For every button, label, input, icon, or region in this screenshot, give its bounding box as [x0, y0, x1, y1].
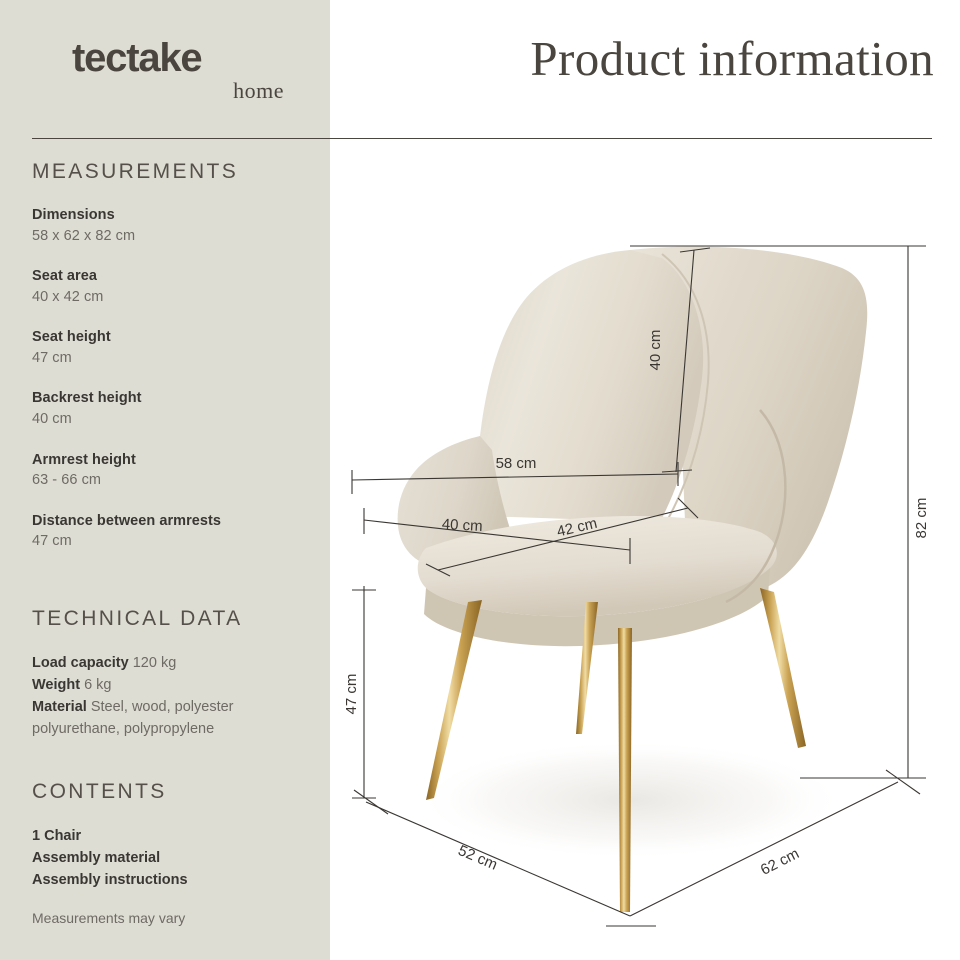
measurement-value: 40 cm [32, 409, 322, 430]
technical-label: Material [32, 699, 87, 715]
measurement-label: Backrest height [32, 388, 322, 409]
dim-label-base-depth: 62 cm [758, 845, 802, 879]
list-item: 1 Chair [32, 825, 322, 847]
brand-subline: home [72, 80, 292, 102]
measurements-disclaimer: Measurements may vary [32, 910, 185, 926]
technical-value: 6 kg [84, 677, 111, 693]
page-title: Product information [330, 30, 936, 87]
dim-label-overall-width: 58 cm [496, 455, 537, 472]
dim-label-seat-height: 47 cm [343, 674, 360, 715]
product-information-sheet: tectake home MEASUREMENTS Dimensions 58 … [0, 0, 960, 960]
measurement-label: Seat height [32, 327, 322, 348]
list-item: Weight 6 kg [32, 674, 327, 696]
technical-value: 120 kg [133, 655, 177, 671]
leg-front-center [618, 628, 632, 912]
measurement-value: 40 x 42 cm [32, 287, 322, 308]
contents-list: 1 Chair Assembly material Assembly instr… [32, 825, 322, 891]
technical-label: Weight [32, 677, 80, 693]
list-item: Distance between armrests 47 cm [32, 511, 322, 552]
list-item: Material Steel, wood, polyester [32, 696, 327, 718]
technical-data-heading: TECHNICAL DATA [32, 607, 243, 631]
measurement-value: 58 x 62 x 82 cm [32, 226, 322, 247]
technical-data-list: Load capacity 120 kg Weight 6 kg Materia… [32, 652, 327, 740]
list-item: Assembly instructions [32, 869, 322, 891]
measurement-value: 47 cm [32, 348, 322, 369]
list-item: Seat height 47 cm [32, 327, 322, 368]
technical-label: Load capacity [32, 655, 129, 671]
list-item: Armrest height 63 - 66 cm [32, 450, 322, 491]
dim-label-seat-width: 40 cm [441, 516, 483, 535]
sidebar: tectake home MEASUREMENTS Dimensions 58 … [0, 0, 330, 960]
list-item: Dimensions 58 x 62 x 82 cm [32, 205, 322, 246]
contents-heading: CONTENTS [32, 780, 167, 804]
list-item: Seat area 40 x 42 cm [32, 266, 322, 307]
list-item: Load capacity 120 kg [32, 652, 327, 674]
leg-rear-right [760, 588, 806, 748]
dim-base-tick-right [886, 770, 920, 794]
measurement-label: Armrest height [32, 450, 322, 471]
technical-value-continuation: polyurethane, polypropylene [32, 718, 327, 740]
measurement-label: Distance between armrests [32, 511, 322, 532]
measurement-label: Seat area [32, 266, 322, 287]
chair-backrest [477, 250, 703, 522]
product-diagram: 82 cm 40 cm 58 cm 40 cm 42 cm 47 cm 52 c… [330, 150, 960, 960]
measurements-heading: MEASUREMENTS [32, 160, 238, 184]
dim-label-backrest-height: 40 cm [647, 330, 664, 371]
header-divider [32, 138, 932, 139]
measurements-list: Dimensions 58 x 62 x 82 cm Seat area 40 … [32, 205, 322, 572]
measurement-value: 63 - 66 cm [32, 470, 322, 491]
measurement-label: Dimensions [32, 205, 322, 226]
brand-name: tectake [72, 38, 292, 78]
dim-label-overall-height: 82 cm [913, 498, 930, 539]
dim-label-base-width: 52 cm [456, 842, 500, 874]
brand-logo: tectake home [72, 38, 292, 102]
dim-base-tick-left [354, 790, 388, 814]
technical-value: Steel, wood, polyester [91, 699, 234, 715]
list-item: Assembly material [32, 847, 322, 869]
chair-illustration [398, 247, 868, 647]
measurement-value: 47 cm [32, 531, 322, 552]
list-item: Backrest height 40 cm [32, 388, 322, 429]
